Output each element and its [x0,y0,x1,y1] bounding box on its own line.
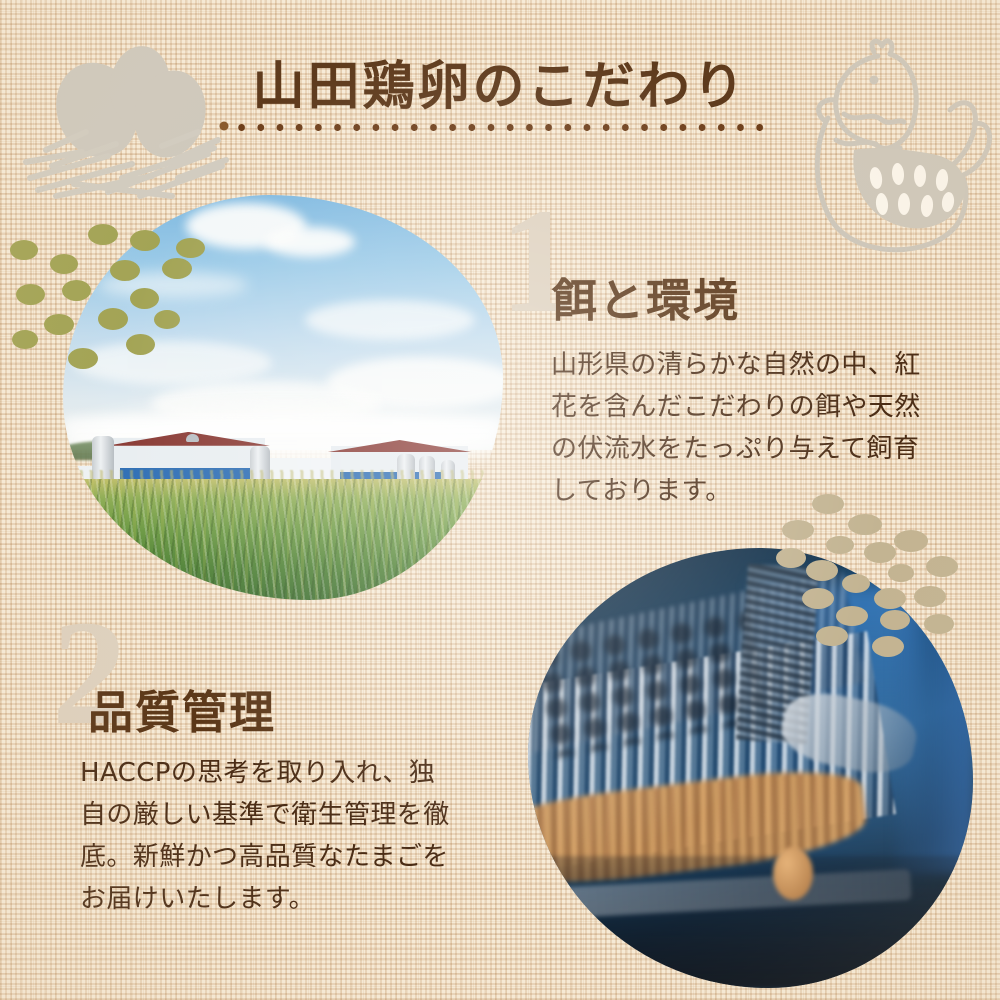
body-line: 花を含んだこだわりの餌や天然 [551,386,971,428]
section-body-2: HACCPの思考を取り入れ、独 自の厳しい基準で衛生管理を徹 底。新鮮かつ高品質… [80,752,502,920]
page-title: 山田鶏卵のこだわり [0,44,1000,119]
olive-dot-cluster [10,218,210,388]
kodawari-infographic-page: 山田鶏卵のこだわり [0,0,1000,1000]
body-line: HACCPの思考を取り入れ、独 [80,752,502,794]
section-body-1: 山形県の清らかな自然の中、紅 花を含んだこだわりの餌や天然 の伏流水をたっぷり与… [551,344,971,512]
body-line: 底。新鮮かつ高品質なたまごを [80,836,502,878]
body-line: お届けいたします。 [80,878,502,920]
body-line: 山形県の清らかな自然の中、紅 [551,344,971,386]
tan-dot-cluster [776,492,998,672]
body-line: 自の厳しい基準で衛生管理を徹 [80,794,502,836]
section-heading-2: 品質管理 [88,676,276,741]
body-line: の伏流水をたっぷり与えて飼育 [551,428,971,470]
body-line: しております。 [551,470,971,512]
dotted-divider [232,124,768,131]
section-heading-1: 餌と環境 [552,264,740,329]
